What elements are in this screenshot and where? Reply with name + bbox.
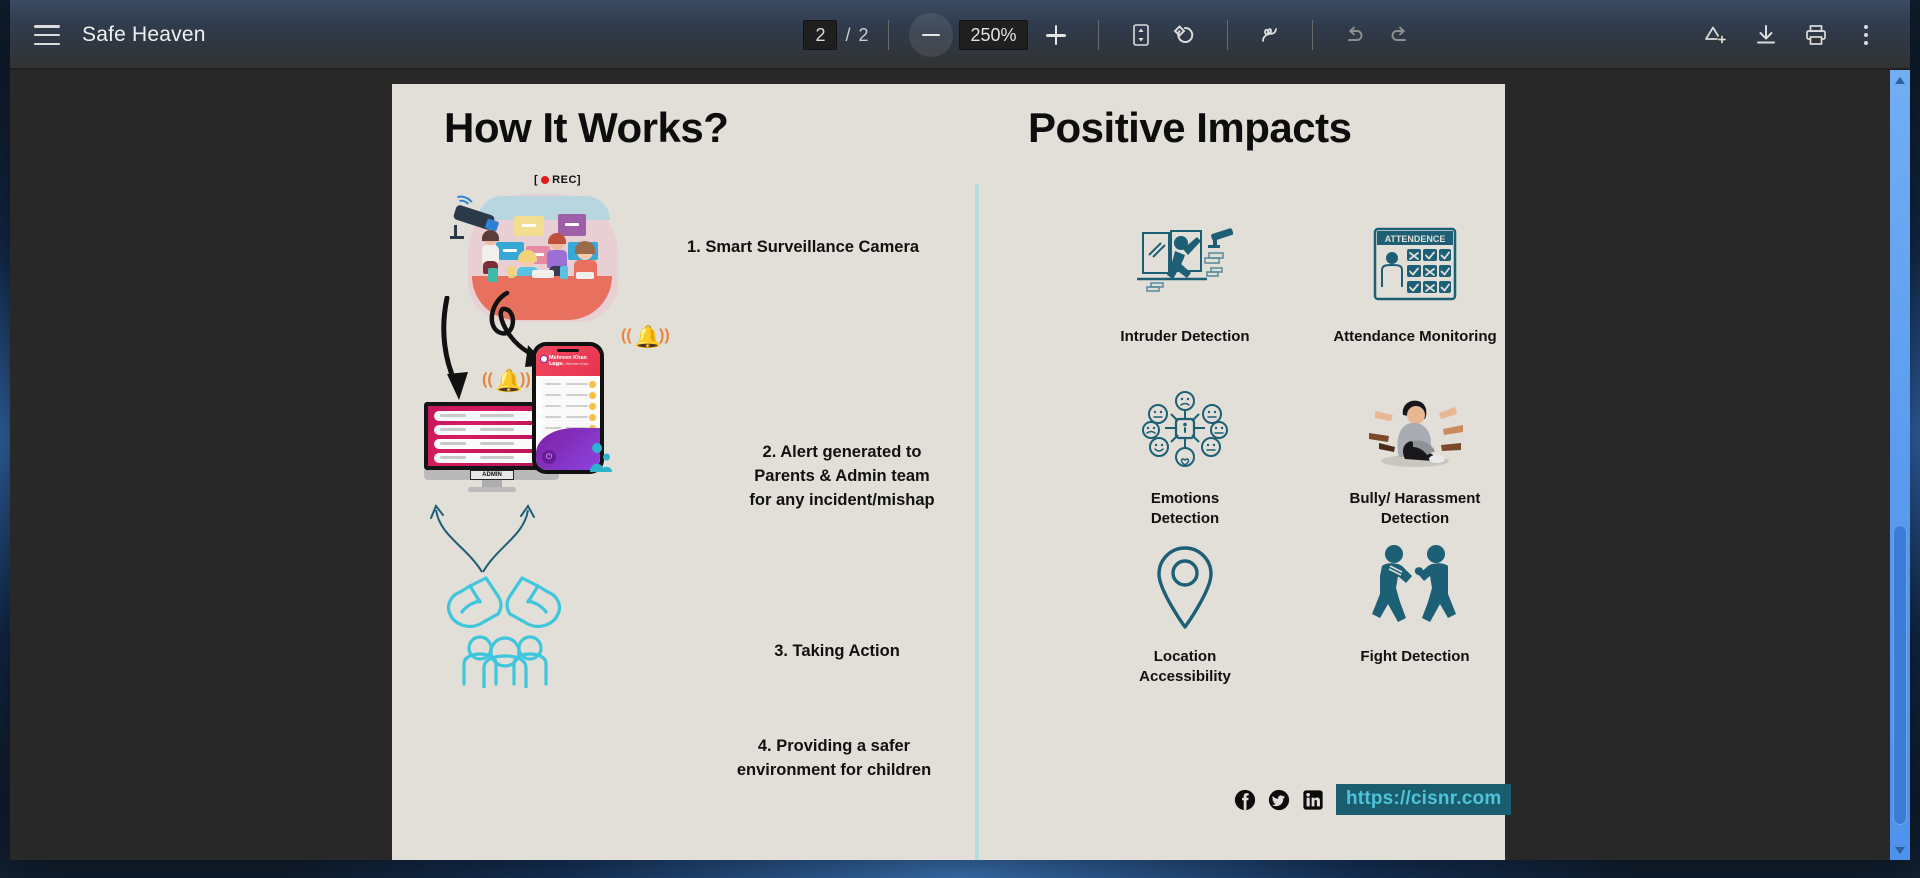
toolbar-divider-4 — [1312, 20, 1313, 50]
zoom-out-button[interactable] — [909, 13, 953, 57]
impact-label: Attendance Monitoring — [1295, 327, 1535, 347]
scroll-down-arrow-icon — [1895, 847, 1905, 854]
toolbar-divider-1 — [888, 20, 889, 50]
zoom-level-display[interactable]: 250% — [959, 20, 1027, 50]
fit-to-page-icon — [1131, 23, 1151, 47]
pdf-page-2: How It Works? Positive Impacts [REC] — [392, 84, 1505, 860]
undo-icon — [1343, 23, 1367, 47]
step-4-text: 4. Providing a safer environment for chi… — [684, 735, 984, 783]
page-title-how-it-works: How It Works? — [444, 104, 728, 152]
impact-label: Emotions Detection — [1065, 489, 1305, 528]
alert-bell-right-icon: 🔔 — [634, 324, 661, 350]
impact-intruder-detection: Intruder Detection — [1065, 214, 1305, 347]
download-button[interactable] — [1744, 13, 1788, 57]
step-3-text: 3. Taking Action — [697, 640, 977, 664]
step-2-line-3: for any incident/mishap — [697, 489, 987, 513]
impact-label: Location Accessibility — [1065, 647, 1305, 686]
scrollbar-thumb[interactable] — [1893, 525, 1907, 825]
impact-attendance-monitoring: ATTENDENCE — [1295, 214, 1535, 347]
toolbar-center-group: 2 / 2 250% — [530, 13, 1694, 57]
impact-label-line-1: Emotions — [1065, 489, 1305, 509]
arrow-down-graphic — [437, 296, 483, 406]
undo-button[interactable] — [1333, 13, 1377, 57]
save-to-drive-icon — [1703, 23, 1729, 47]
page-total-count: 2 — [858, 25, 868, 46]
page-title-positive-impacts: Positive Impacts — [1028, 104, 1351, 152]
redo-button[interactable] — [1377, 13, 1421, 57]
impact-location-accessibility: Location Accessibility — [1065, 534, 1305, 686]
step-2-line-1: 2. Alert generated to — [697, 441, 987, 465]
step-2-text: 2. Alert generated to Parents & Admin te… — [697, 441, 987, 513]
impact-label-line-1: Bully/ Harassment — [1295, 489, 1535, 509]
bell-wave-left-icon: (( — [482, 371, 493, 389]
scroll-up-arrow-icon — [1895, 77, 1905, 84]
zoom-controls: 250% — [909, 13, 1077, 57]
hamburger-menu-icon[interactable] — [34, 25, 60, 45]
impact-label: Bully/ Harassment Detection — [1295, 489, 1535, 528]
annotate-button[interactable] — [1248, 13, 1292, 57]
website-url-text: https://cisnr.com — [1346, 788, 1501, 809]
impact-fight-detection: Fight Detection — [1295, 534, 1535, 667]
bell-wave-left2-icon: )) — [520, 371, 531, 389]
pdf-viewer-window: Safe Heaven 2 / 2 250% — [10, 0, 1910, 860]
phone-power-icon: ⏻ — [542, 450, 556, 464]
fight-detection-icon — [1360, 542, 1470, 632]
rotate-button[interactable] — [1163, 13, 1207, 57]
step-1-text: 1. Smart Surveillance Camera — [687, 236, 967, 260]
attendance-card-text: ATTENDENCE — [1385, 234, 1446, 244]
save-to-drive-button[interactable] — [1694, 13, 1738, 57]
page-footer: https://cisnr.com — [1234, 784, 1511, 815]
annotate-pen-icon — [1258, 23, 1282, 47]
step-4-line-2: environment for children — [684, 759, 984, 783]
impact-label-line-2: Detection — [1295, 509, 1535, 529]
bell-wave-right2-icon: )) — [659, 327, 670, 345]
toolbar-left-group: Safe Heaven — [10, 23, 530, 47]
more-options-kebab-icon — [1864, 25, 1868, 45]
toolbar-right-group — [1694, 13, 1910, 57]
bell-wave-right-icon: (( — [621, 327, 632, 345]
step-4-line-1: 4. Providing a safer — [684, 735, 984, 759]
emotions-detection-icon — [1135, 381, 1235, 476]
page-separator: / — [845, 25, 850, 46]
toolbar-divider-3 — [1227, 20, 1228, 50]
document-scroll-area[interactable]: How It Works? Positive Impacts [REC] — [10, 70, 1910, 860]
step-2-line-2: Parents & Admin team — [697, 465, 987, 489]
document-title: Safe Heaven — [82, 23, 206, 47]
monitor-admin-label: ADMIN — [470, 470, 514, 480]
redo-icon — [1387, 23, 1411, 47]
attendance-monitoring-icon: ATTENDENCE — [1365, 221, 1465, 313]
bully-harassment-detection-icon — [1355, 381, 1475, 476]
impact-emotions-detection: Emotions Detection — [1065, 376, 1305, 528]
phone-app-subtitle: Welcome, Mehreen Khan — [549, 362, 588, 366]
print-button[interactable] — [1794, 13, 1838, 57]
rec-dot-icon — [541, 176, 549, 184]
page-number-input[interactable]: 2 — [803, 20, 837, 50]
linkedin-icon[interactable] — [1302, 789, 1324, 811]
website-url-badge[interactable]: https://cisnr.com — [1336, 784, 1511, 815]
facebook-icon[interactable] — [1234, 789, 1256, 811]
impact-label: Fight Detection — [1295, 647, 1535, 667]
toolbar-divider-2 — [1098, 20, 1099, 50]
impact-label: Intruder Detection — [1065, 327, 1305, 347]
location-accessibility-icon — [1150, 541, 1220, 633]
print-icon — [1804, 23, 1828, 47]
download-icon — [1754, 23, 1778, 47]
impact-label-line-2: Detection — [1065, 509, 1305, 529]
scroll-up-button[interactable] — [1890, 70, 1910, 90]
caring-hands-icon — [440, 566, 570, 688]
alert-bell-left-icon: 🔔 — [495, 368, 522, 394]
impact-bully-harassment-detection: Bully/ Harassment Detection — [1295, 376, 1535, 528]
surveillance-camera-icon — [450, 198, 502, 240]
parent-child-icon — [588, 442, 614, 472]
impact-label-line-1: Location — [1065, 647, 1305, 667]
impact-label-line-2: Accessibility — [1065, 667, 1305, 687]
rotate-icon — [1173, 23, 1197, 47]
plus-icon — [1046, 25, 1066, 45]
zoom-in-button[interactable] — [1034, 13, 1078, 57]
intruder-detection-icon — [1125, 219, 1245, 314]
more-options-button[interactable] — [1844, 13, 1888, 57]
vertical-scrollbar[interactable] — [1890, 70, 1910, 860]
minus-icon — [922, 34, 940, 37]
fit-to-page-button[interactable] — [1119, 13, 1163, 57]
twitter-icon[interactable] — [1268, 789, 1290, 811]
parent-app-phone-mockup: Mehreen Khan Logs Welcome, Mehreen Khan … — [532, 342, 604, 474]
scroll-down-button[interactable] — [1890, 840, 1910, 860]
pdf-toolbar: Safe Heaven 2 / 2 250% — [10, 0, 1910, 70]
